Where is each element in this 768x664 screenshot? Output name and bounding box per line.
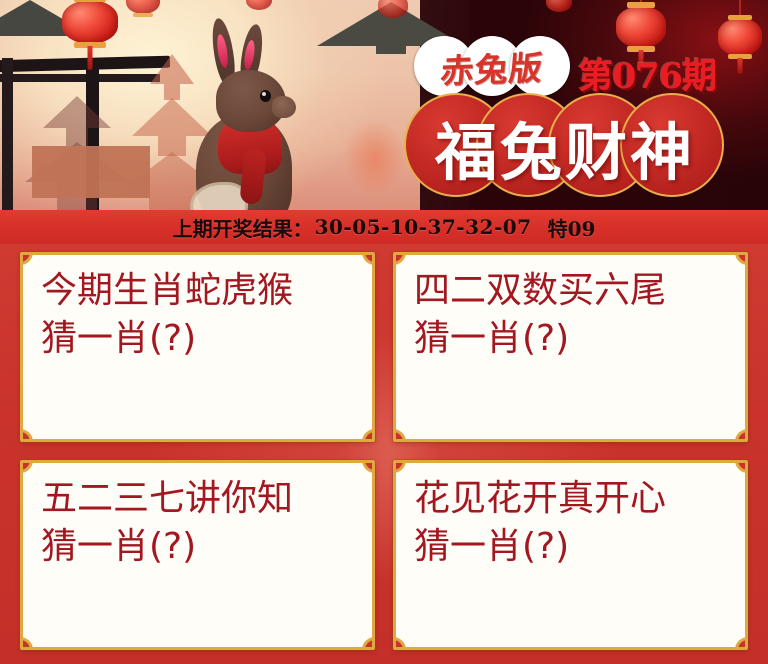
corner-cut-icon bbox=[20, 637, 33, 650]
corner-cut-icon bbox=[735, 460, 748, 473]
corner-cut-icon bbox=[393, 460, 406, 473]
riddle-line-1: 今期生肖蛇虎猴 bbox=[41, 269, 356, 313]
rabbit-illustration bbox=[168, 18, 318, 212]
riddle-card-grid: 今期生肖蛇虎猴 猜一肖(?) 四二双数买六尾 猜一肖(?) 五二三七讲你知 猜一… bbox=[0, 244, 768, 664]
corner-cut-icon bbox=[20, 460, 33, 473]
corner-cut-icon bbox=[393, 252, 406, 265]
last-draw-result-bar: 上期开奖结果： 30-05-10-37-32-07 特09 bbox=[0, 210, 768, 244]
poster-title: 福兔财神 bbox=[404, 93, 726, 201]
banner-image: 赤兔版 第076期 福兔财神 bbox=[0, 0, 768, 212]
riddle-line-1: 五二三七讲你知 bbox=[41, 477, 356, 521]
riddle-line-2: 猜一肖(?) bbox=[41, 525, 356, 569]
result-numbers: 30-05-10-37-32-07 bbox=[315, 215, 532, 239]
riddle-card[interactable]: 今期生肖蛇虎猴 猜一肖(?) bbox=[20, 252, 375, 442]
corner-cut-icon bbox=[735, 637, 748, 650]
riddle-line-2: 猜一肖(?) bbox=[41, 317, 356, 361]
result-label: 上期开奖结果： bbox=[173, 213, 313, 242]
poster-page: 赤兔版 第076期 福兔财神 上期开奖结果： 30-05-10-37-32-07… bbox=[0, 0, 768, 664]
poster-title-label: 福兔财神 bbox=[404, 93, 726, 201]
lantern-icon-5 bbox=[616, 6, 666, 48]
edition-badge-label: 赤兔版 bbox=[411, 33, 573, 100]
corner-cut-icon bbox=[362, 460, 375, 473]
torii-gate-post2-icon bbox=[2, 58, 13, 212]
result-special-number: 特09 bbox=[548, 213, 596, 242]
corner-cut-icon bbox=[20, 429, 33, 442]
corner-cut-icon bbox=[735, 429, 748, 442]
riddle-line-1: 花见花开真开心 bbox=[414, 477, 729, 521]
riddle-line-2: 猜一肖(?) bbox=[414, 317, 729, 361]
edition-badge: 赤兔版 bbox=[414, 36, 570, 98]
riddle-card[interactable]: 四二双数买六尾 猜一肖(?) bbox=[393, 252, 748, 442]
corner-cut-icon bbox=[393, 429, 406, 442]
lantern-icon bbox=[62, 0, 118, 44]
lantern-icon-7 bbox=[546, 0, 572, 12]
riddle-line-2: 猜一肖(?) bbox=[414, 525, 729, 569]
corner-cut-icon bbox=[735, 252, 748, 265]
corner-cut-icon bbox=[20, 252, 33, 265]
riddle-card[interactable]: 五二三七讲你知 猜一肖(?) bbox=[20, 460, 375, 650]
lantern-icon-4 bbox=[378, 0, 408, 18]
lantern-icon-2 bbox=[126, 0, 160, 14]
riddle-line-1: 四二双数买六尾 bbox=[414, 269, 729, 313]
lantern-icon-3 bbox=[246, 0, 272, 10]
lantern-icon-6 bbox=[718, 18, 762, 56]
corner-cut-icon bbox=[393, 637, 406, 650]
corner-cut-icon bbox=[362, 252, 375, 265]
corner-cut-icon bbox=[362, 429, 375, 442]
issue-number: 第076期 bbox=[578, 48, 716, 99]
redacted-block bbox=[32, 146, 150, 198]
riddle-card[interactable]: 花见花开真开心 猜一肖(?) bbox=[393, 460, 748, 650]
corner-cut-icon bbox=[362, 637, 375, 650]
